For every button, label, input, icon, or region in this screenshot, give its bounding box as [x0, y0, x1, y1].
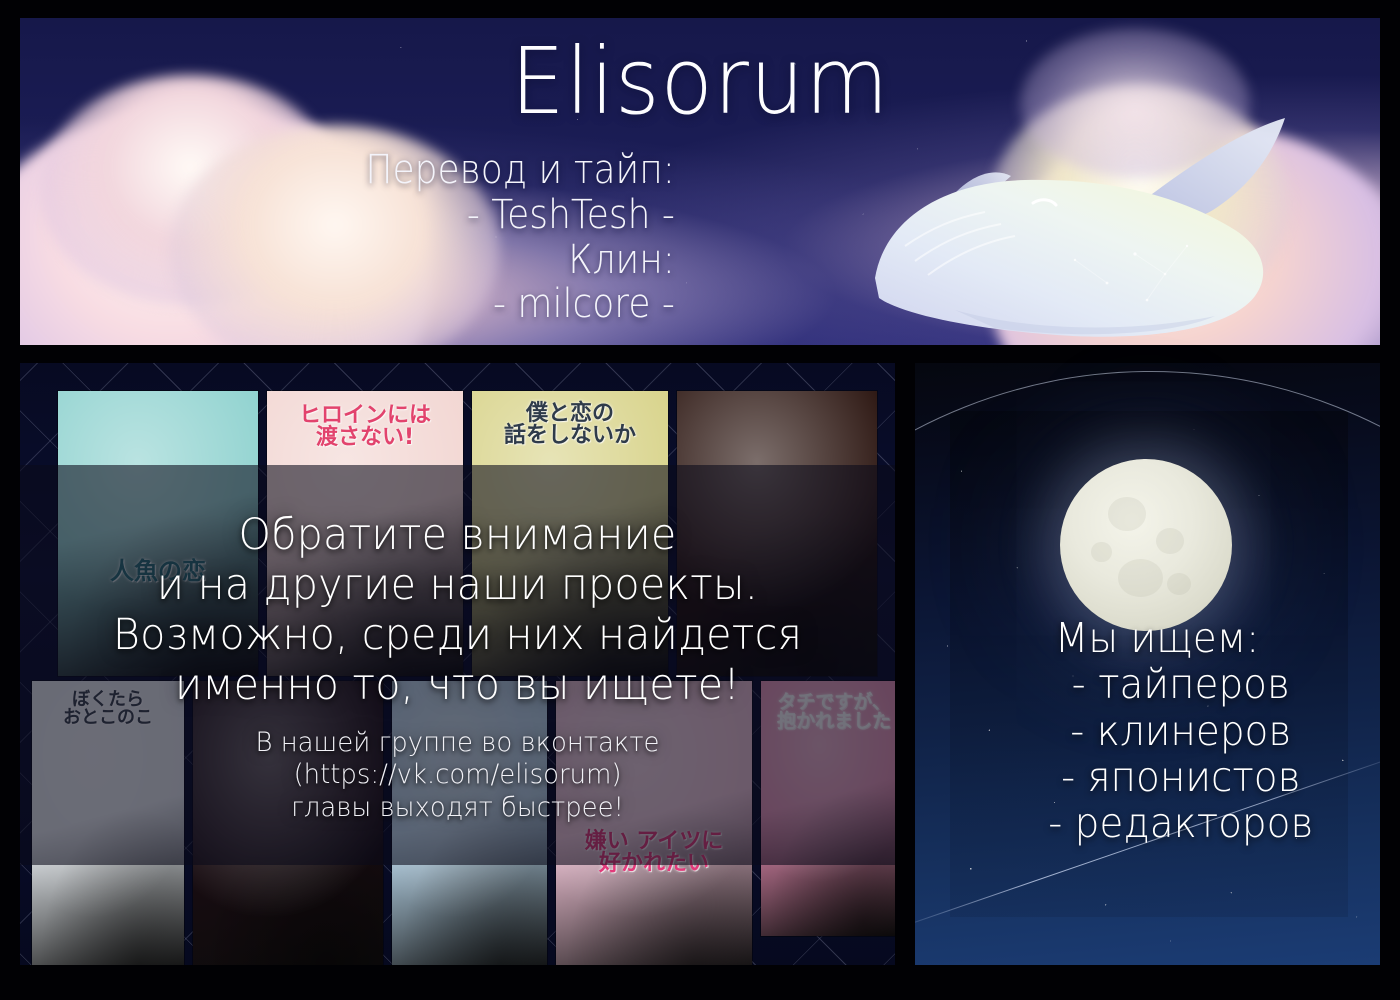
recruiting-title: Мы ищем:	[927, 615, 1369, 661]
credits-line-role-translate: Перевод и тайп:	[365, 148, 675, 193]
credits-line-name-milcore: - milcore -	[365, 282, 675, 327]
vk-note-line-1: В нашей группе во вконтакте	[38, 727, 878, 759]
vk-group-link[interactable]: (https://vk.com/elisorum)	[38, 759, 878, 791]
full-moon-icon	[1060, 459, 1232, 631]
credits-block: Перевод и тайп: - TeshTesh - Клин: - mil…	[365, 148, 675, 327]
recruiting-item-typers: - тайперов	[927, 661, 1369, 707]
projects-message: Обратите внимание и на другие наши проек…	[38, 511, 878, 711]
projects-message-line-3: Возможно, среди них найдется	[38, 611, 878, 661]
projects-panel: 人魚の恋ヒロインには渡さない!僕と恋の話をしないか ぼくたらおとこのこ嫌い アイ…	[20, 363, 895, 965]
page-title: Elisorum	[68, 36, 1333, 128]
recruiting-list: Мы ищем: - тайперов - клинеров - японист…	[927, 615, 1369, 847]
projects-message-line-4: именно то, что вы ищете!	[38, 661, 878, 711]
recruiting-item-editors: - редакторов	[927, 800, 1369, 846]
recruiting-item-cleaners: - клинеров	[927, 708, 1369, 754]
projects-message-line-1: Обратите внимание	[38, 511, 878, 561]
poster-root: Elisorum Перевод и тайп: - TeshTesh - Кл…	[0, 0, 1400, 1000]
cover-title-jp: 僕と恋の話をしないか	[472, 403, 668, 448]
vk-note-line-3: главы выходят быстрее!	[38, 792, 878, 824]
vk-group-note: В нашей группе во вконтакте (https://vk.…	[38, 727, 878, 824]
header-banner: Elisorum Перевод и тайп: - TeshTesh - Кл…	[20, 18, 1380, 345]
credits-line-role-clean: Клин:	[365, 238, 675, 283]
cover-title-jp: ヒロインには渡さない!	[267, 405, 463, 450]
credits-line-name-teshtesh: - TeshTesh -	[365, 193, 675, 238]
recruiting-item-japanists: - японистов	[927, 754, 1369, 800]
projects-message-line-2: и на другие наши проекты.	[38, 561, 878, 611]
